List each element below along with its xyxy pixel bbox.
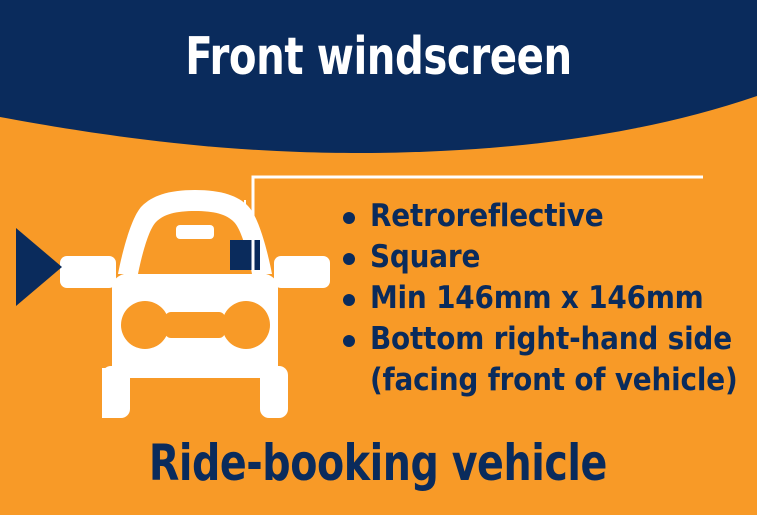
list-item: Retroreflective: [336, 196, 736, 237]
list-item-label: Bottom right-hand side: [370, 321, 732, 357]
left-mirror-shape: [60, 256, 116, 288]
right-mirror-shape: [274, 256, 330, 288]
bullet-dot-icon: [343, 294, 355, 306]
vehicle-type-caption: Ride-booking vehicle: [45, 434, 711, 492]
requirements-list: Retroreflective Square Min 146mm x 146mm…: [336, 196, 736, 401]
permit-sticker-shape: [230, 240, 260, 270]
grille-shape: [165, 312, 225, 338]
page-title: Front windscreen: [53, 28, 704, 86]
car-illustration: [50, 170, 340, 420]
bumper-gap-shape: [113, 378, 277, 420]
list-item: Min 146mm x 146mm: [336, 278, 736, 319]
bullet-dot-icon: [343, 253, 355, 265]
list-item-label: Retroreflective: [370, 198, 603, 234]
list-item: Square: [336, 237, 736, 278]
left-headlight-shape: [121, 301, 169, 349]
bullet-dot-icon: [343, 212, 355, 224]
rearview-mirror-shape: [176, 225, 214, 239]
infographic-card: Front windscreen: [0, 0, 757, 515]
list-item: Bottom right-hand side (facing front of …: [336, 319, 736, 401]
bullet-dot-icon: [343, 335, 355, 347]
right-body-skirt: [260, 346, 278, 386]
list-item-label: Min 146mm x 146mm: [370, 280, 704, 316]
left-body-skirt: [112, 346, 130, 386]
right-headlight-shape: [222, 301, 270, 349]
left-arrow-icon: [14, 226, 64, 308]
list-item-sublabel: (facing front of vehicle): [370, 360, 736, 401]
list-item-label: Square: [370, 239, 480, 275]
